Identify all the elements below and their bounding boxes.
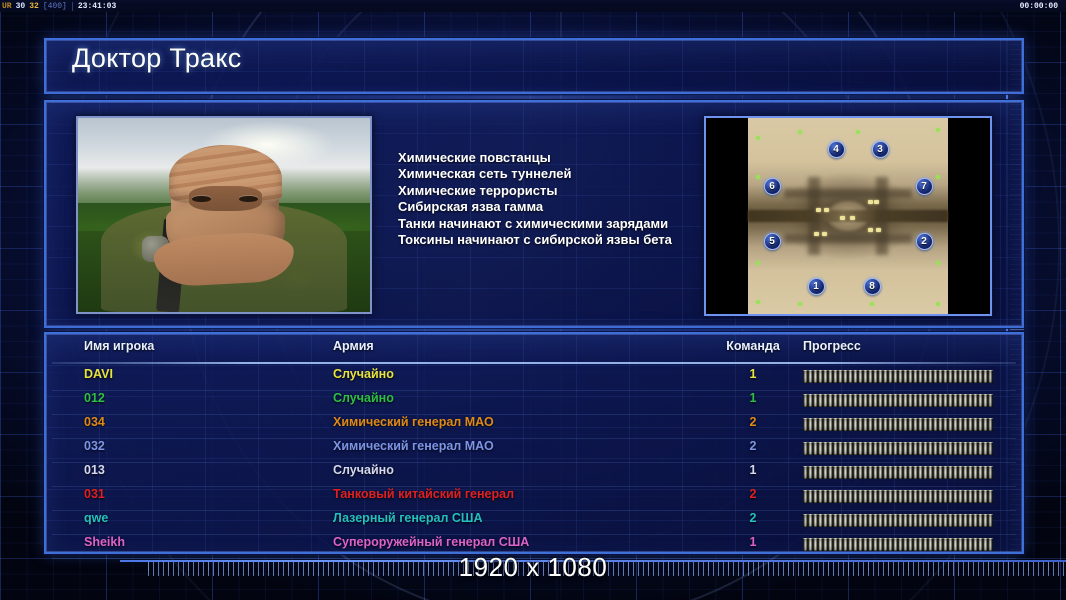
minimap-supply-dock	[756, 300, 760, 304]
minimap-supply-dock	[936, 261, 940, 265]
player-team: 2	[718, 511, 788, 525]
minimap-oil-derrick	[876, 228, 881, 232]
table-header-row: Имя игрока Армия Команда Прогресс	[46, 339, 1022, 361]
minimap-start-position-2[interactable]: 2	[916, 233, 933, 250]
minimap-oil-derrick	[816, 208, 821, 212]
minimap-start-position-8[interactable]: 8	[864, 278, 881, 295]
player-name: 031	[84, 487, 105, 501]
description-line: Сибирская язва гамма	[398, 199, 672, 215]
portrait-eye-right	[239, 196, 258, 203]
minimap-supply-dock	[756, 136, 760, 140]
player-name: 032	[84, 439, 105, 453]
player-army: Супероружейный генерал США	[333, 535, 529, 549]
minimap-start-position-5[interactable]: 5	[764, 233, 781, 250]
player-army: Случайно	[333, 367, 394, 381]
general-description: Химические повстанцы Химическая сеть тун…	[398, 150, 672, 248]
progress-bar-fill	[803, 418, 993, 431]
player-name: 034	[84, 415, 105, 429]
resolution-watermark: 1920 x 1080	[0, 552, 1066, 583]
player-army: Случайно	[333, 463, 394, 477]
minimap-supply-dock	[856, 130, 860, 134]
topbar-label: UR	[0, 2, 14, 11]
player-army: Случайно	[333, 391, 394, 405]
minimap-oil-derrick	[868, 228, 873, 232]
progress-bar-fill	[803, 370, 993, 383]
minimap-oil-derrick	[814, 232, 819, 236]
minimap-start-position-1[interactable]: 1	[808, 278, 825, 295]
minimap-frame[interactable]: 12345678	[704, 116, 992, 316]
minimap-supply-dock	[936, 175, 940, 179]
table-row[interactable]: 012Случайно1	[46, 391, 1022, 415]
portrait-eye-left	[192, 196, 211, 203]
topbar-bracket: [400]	[41, 2, 69, 11]
player-team: 1	[718, 367, 788, 381]
player-name: 013	[84, 463, 105, 477]
player-name: qwe	[84, 511, 108, 525]
minimap-start-position-4[interactable]: 4	[828, 141, 845, 158]
progress-bar-fill	[803, 466, 993, 479]
progress-bar-fill	[803, 442, 993, 455]
player-table-panel: Имя игрока Армия Команда Прогресс DAVIСл…	[44, 332, 1024, 554]
column-header-army: Армия	[333, 339, 374, 353]
page-title: Доктор Тракс	[72, 43, 242, 74]
minimap-supply-dock	[936, 128, 940, 132]
player-progress	[803, 370, 993, 383]
minimap-start-position-7[interactable]: 7	[916, 178, 933, 195]
player-army: Химический генерал МАО	[333, 415, 494, 429]
player-table: Имя игрока Армия Команда Прогресс DAVIСл…	[46, 334, 1022, 552]
minimap-oil-derrick	[874, 200, 879, 204]
table-row[interactable]: qweЛазерный генерал США2	[46, 511, 1022, 535]
minimap-start-position-6[interactable]: 6	[764, 178, 781, 195]
player-progress	[803, 490, 993, 503]
minimap-supply-dock	[798, 302, 802, 306]
minimap-start-position-3[interactable]: 3	[872, 141, 889, 158]
player-progress	[803, 394, 993, 407]
column-header-name: Имя игрока	[84, 339, 154, 353]
minimap-supply-dock	[756, 261, 760, 265]
minimap-supply-dock	[756, 175, 760, 179]
progress-bar-fill	[803, 514, 993, 527]
description-line: Танки начинают с химическими зарядами	[398, 216, 672, 232]
player-name: Sheikh	[84, 535, 125, 549]
topbar-time: 23:41:03	[76, 2, 118, 11]
player-name: DAVI	[84, 367, 113, 381]
minimap-oil-derrick	[850, 216, 855, 220]
minimap-image[interactable]: 12345678	[748, 118, 948, 314]
player-army: Химический генерал МАО	[333, 439, 494, 453]
minimap-terrain	[784, 234, 912, 244]
minimap-supply-dock	[936, 302, 940, 306]
progress-bar-fill	[803, 538, 993, 551]
column-header-progress: Прогресс	[803, 339, 993, 353]
player-army: Лазерный генерал США	[333, 511, 482, 525]
table-row[interactable]: DAVIСлучайно1	[46, 367, 1022, 391]
table-row[interactable]: 031Танковый китайский генерал2	[46, 487, 1022, 511]
player-team: 1	[718, 535, 788, 549]
player-team: 1	[718, 391, 788, 405]
minimap-river	[748, 210, 948, 222]
player-team: 1	[718, 463, 788, 477]
description-line: Химические террористы	[398, 183, 672, 199]
minimap-supply-dock	[870, 302, 874, 306]
player-team: 2	[718, 487, 788, 501]
minimap-supply-dock	[798, 130, 802, 134]
description-line: Токсины начинают с сибирской язвы бета	[398, 232, 672, 248]
topbar-divider	[72, 2, 73, 11]
minimap-oil-derrick	[840, 216, 845, 220]
topbar-value-2: 32	[27, 2, 41, 11]
info-panel: Химические повстанцы Химическая сеть тун…	[44, 100, 1024, 328]
column-header-team: Команда	[718, 339, 788, 353]
topbar-clock: 00:00:00	[1020, 2, 1066, 11]
player-progress	[803, 538, 993, 551]
player-progress	[803, 418, 993, 431]
top-status-bar: UR 30 32 [400] 23:41:03 00:00:00	[0, 0, 1066, 12]
description-line: Химическая сеть туннелей	[398, 166, 672, 182]
app-root: UR 30 32 [400] 23:41:03 00:00:00 Доктор …	[0, 0, 1066, 600]
table-row[interactable]: 032Химический генерал МАО2	[46, 439, 1022, 463]
player-team: 2	[718, 415, 788, 429]
player-progress	[803, 514, 993, 527]
topbar-value-1: 30	[14, 2, 28, 11]
player-progress	[803, 442, 993, 455]
minimap-oil-derrick	[822, 232, 827, 236]
general-portrait	[76, 116, 372, 314]
minimap-oil-derrick	[868, 200, 873, 204]
player-army: Танковый китайский генерал	[333, 487, 514, 501]
table-row[interactable]: 013Случайно1	[46, 463, 1022, 487]
player-name: 012	[84, 391, 105, 405]
progress-bar-fill	[803, 490, 993, 503]
minimap-terrain	[784, 189, 912, 199]
description-line: Химические повстанцы	[398, 150, 672, 166]
player-team: 2	[718, 439, 788, 453]
title-panel: Доктор Тракс	[44, 38, 1024, 94]
progress-bar-fill	[803, 394, 993, 407]
player-progress	[803, 466, 993, 479]
table-row[interactable]: 034Химический генерал МАО2	[46, 415, 1022, 439]
minimap-oil-derrick	[824, 208, 829, 212]
